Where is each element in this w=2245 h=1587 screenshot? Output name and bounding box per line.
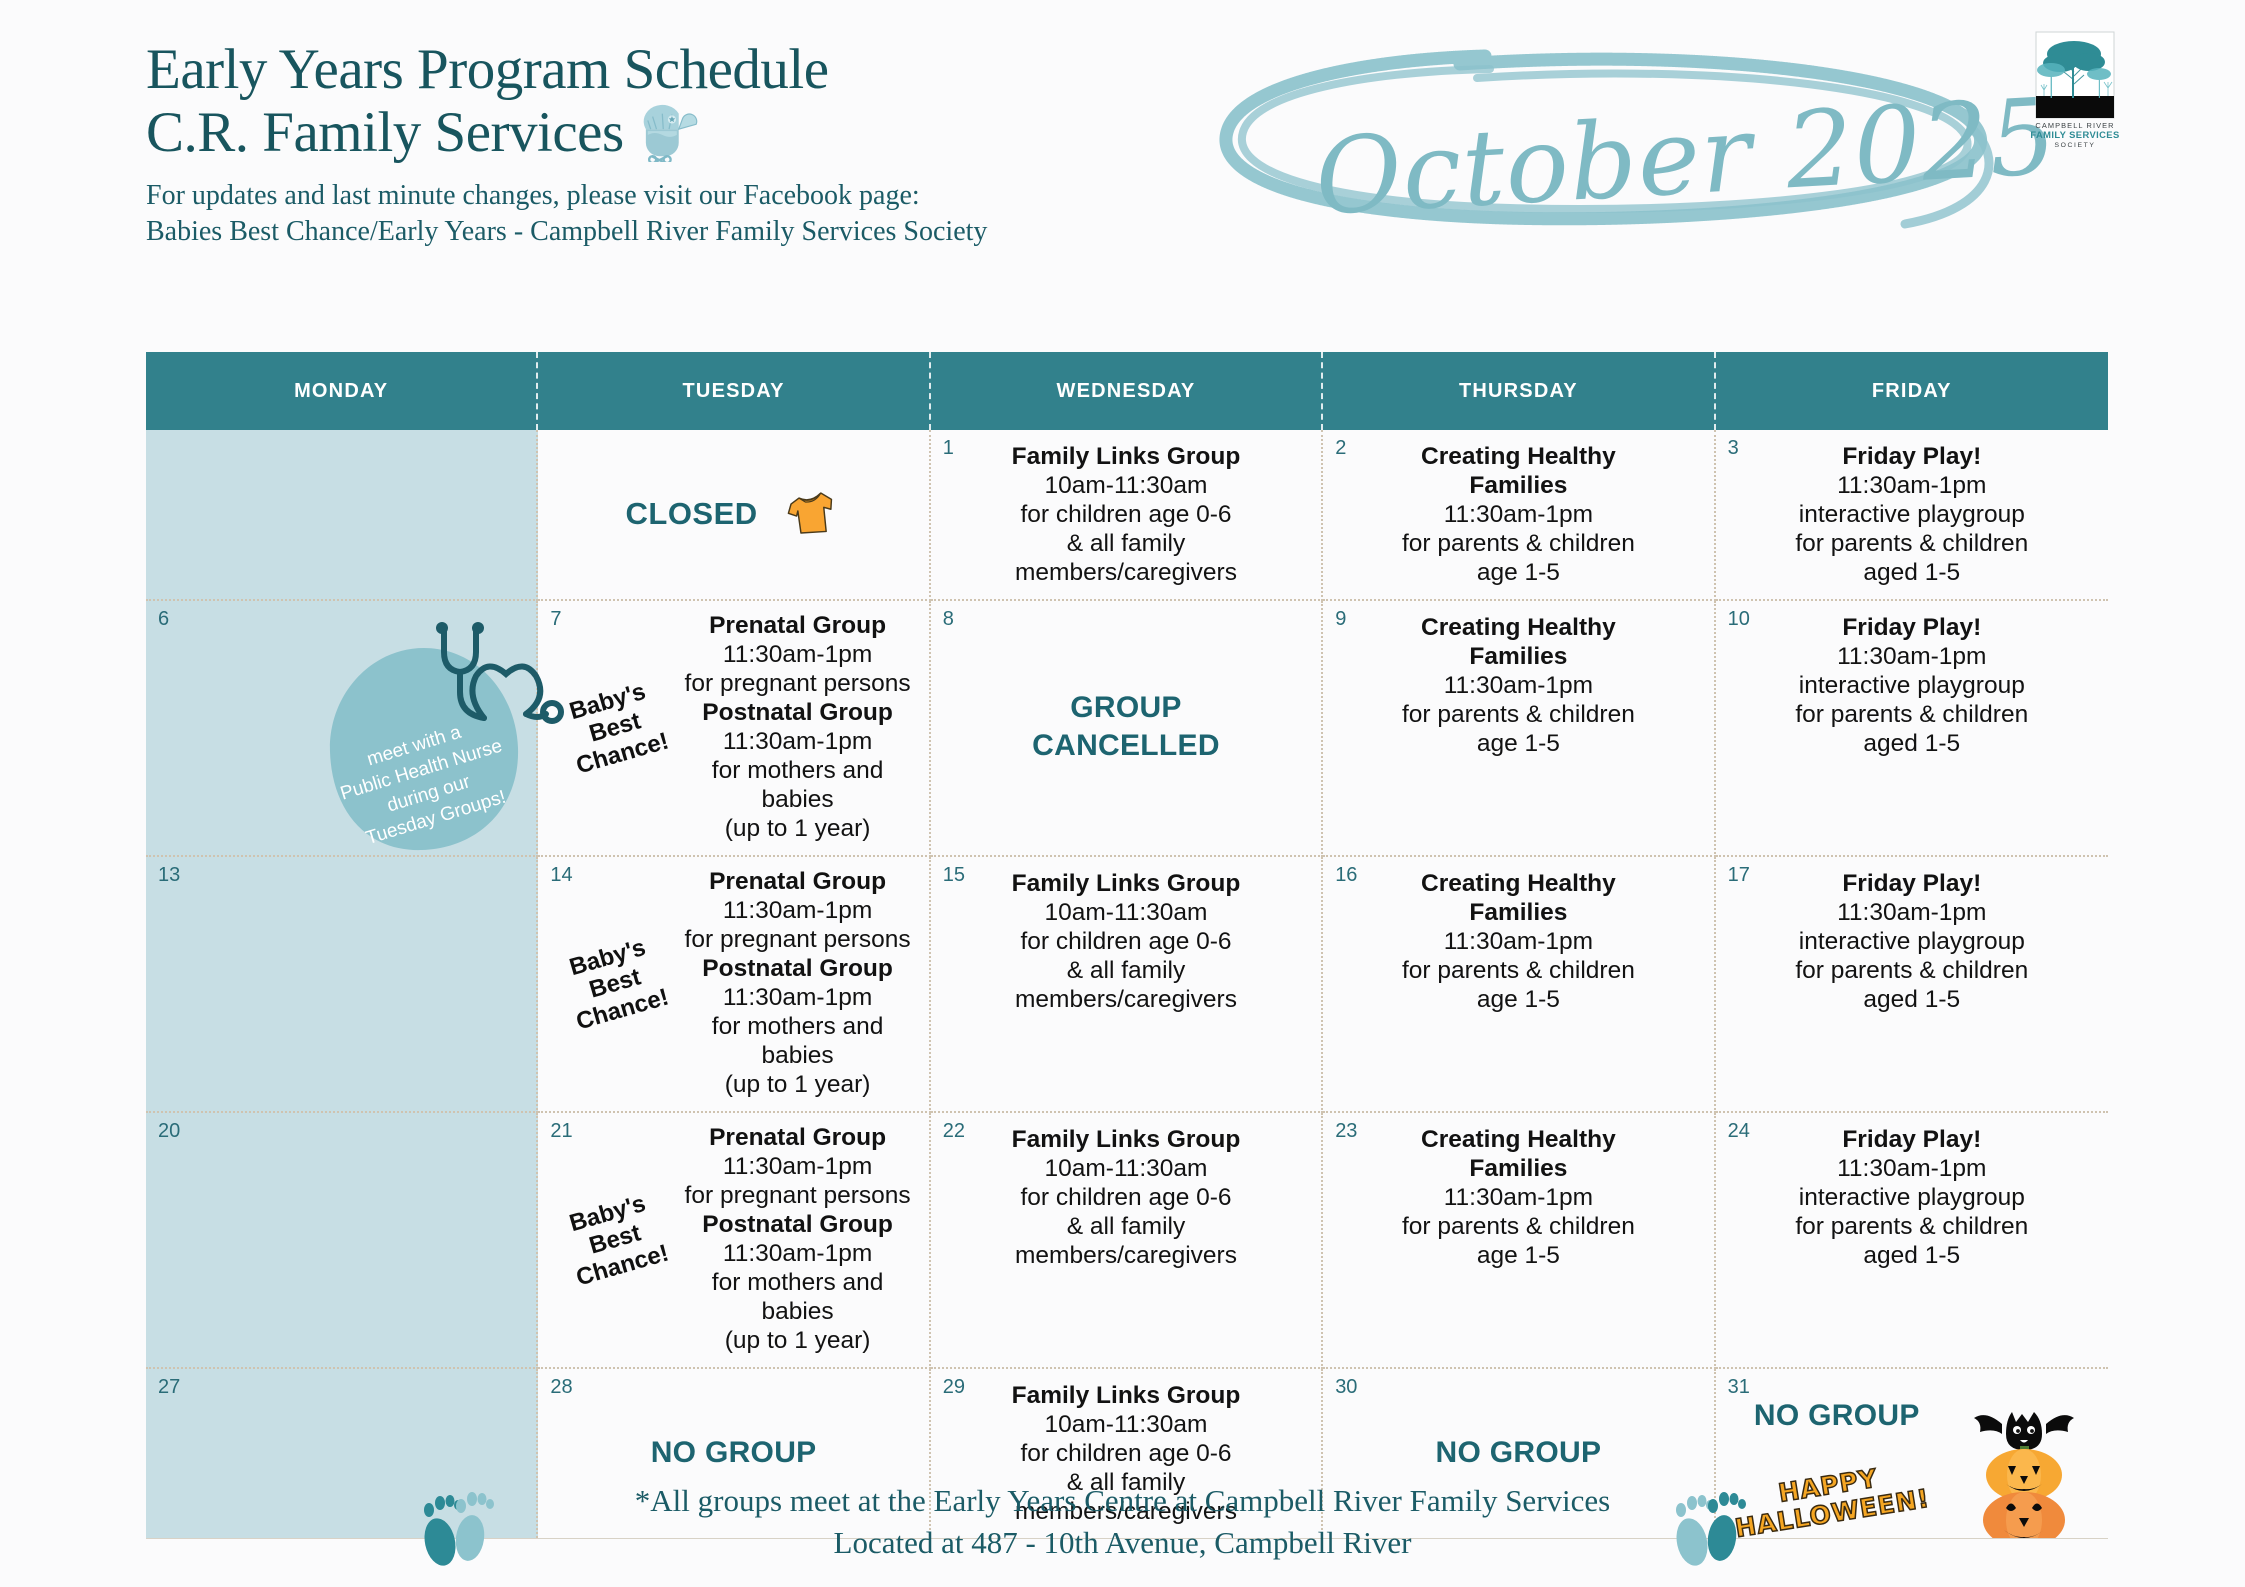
- event-title: Creating HealthyFamilies: [1337, 869, 1699, 927]
- day-number: 20: [158, 1121, 180, 1141]
- event-detail: interactive playgroup: [1730, 1183, 2094, 1212]
- event-detail: 10am-11:30am: [945, 1154, 1307, 1183]
- tuesday-content: Baby'sBestChance! Prenatal Group 11:30am…: [546, 867, 920, 1099]
- day-number: 8: [943, 609, 954, 629]
- page-title-line2: C.R. Family Services: [146, 101, 624, 164]
- event-detail: (up to 1 year): [674, 814, 920, 843]
- event-detail: age 1-5: [1337, 1241, 1699, 1270]
- event-detail: for parents & children: [1337, 956, 1699, 985]
- day-number: 23: [1335, 1121, 1357, 1141]
- event-detail: 11:30am-1pm: [674, 727, 920, 756]
- event: Creating HealthyFamilies 11:30am-1pm for…: [1331, 869, 1705, 1014]
- event-title: Creating HealthyFamilies: [1337, 613, 1699, 671]
- day-cell[interactable]: 13: [146, 857, 538, 1113]
- day-cell[interactable]: 23 Creating HealthyFamilies 11:30am-1pm …: [1323, 1113, 1715, 1369]
- calendar-week-row: 13 14 Baby'sBestChance! Prenatal Group 1…: [146, 857, 2108, 1113]
- day-cell[interactable]: 22 Family Links Group 10am-11:30am for c…: [931, 1113, 1323, 1369]
- event-detail: for pregnant persons: [674, 925, 920, 954]
- page-title-line2-row: C.R. Family Services: [146, 101, 1226, 164]
- event-detail: 11:30am-1pm: [674, 983, 920, 1012]
- day-cell[interactable]: CLOSED: [538, 430, 930, 601]
- day-number: 14: [550, 865, 572, 885]
- day-header-wednesday: WEDNESDAY: [931, 352, 1323, 430]
- logo-line2: FAMILY SERVICES: [2030, 129, 2119, 140]
- tshirt-icon: [780, 483, 842, 545]
- day-cell[interactable]: [146, 430, 538, 601]
- tuesday-content: Baby'sBestChance! Prenatal Group 11:30am…: [546, 1123, 920, 1355]
- day-cell[interactable]: 2 Creating HealthyFamilies 11:30am-1pm f…: [1323, 430, 1715, 601]
- event-detail: 10am-11:30am: [945, 471, 1307, 500]
- event-detail: for mothers and babies: [674, 756, 920, 814]
- event: Friday Play! 11:30am-1pm interactive pla…: [1724, 613, 2100, 758]
- event-title: Family Links Group: [945, 442, 1307, 471]
- event-title: Creating HealthyFamilies: [1337, 442, 1699, 500]
- calendar-header-row: MONDAY TUESDAY WEDNESDAY THURSDAY FRIDAY: [146, 352, 2108, 430]
- event-detail: 10am-11:30am: [945, 1410, 1307, 1439]
- event-detail: & all family: [945, 1212, 1307, 1241]
- day-cell[interactable]: 16 Creating HealthyFamilies 11:30am-1pm …: [1323, 857, 1715, 1113]
- event: Creating HealthyFamilies 11:30am-1pm for…: [1331, 442, 1705, 587]
- closed-row: CLOSED: [546, 440, 920, 587]
- event-detail: for children age 0-6: [945, 1439, 1307, 1468]
- event-detail: members/caregivers: [945, 1241, 1307, 1270]
- footer-line2: Located at 487 - 10th Avenue, Campbell R…: [0, 1522, 2245, 1564]
- event-title: Friday Play!: [1730, 869, 2094, 898]
- day-number: 31: [1728, 1377, 1750, 1397]
- event-title: Creating HealthyFamilies: [1337, 1125, 1699, 1183]
- event-detail: for parents & children: [1730, 1212, 2094, 1241]
- day-header-friday: FRIDAY: [1716, 352, 2108, 430]
- subtitle-line1: For updates and last minute changes, ple…: [146, 178, 1226, 214]
- day-cell[interactable]: 1 Family Links Group 10am-11:30am for ch…: [931, 430, 1323, 601]
- event: Family Links Group 10am-11:30am for chil…: [939, 1125, 1313, 1270]
- event-group: Prenatal Group 11:30am-1pm for pregnant …: [674, 1123, 920, 1355]
- event-detail: for mothers and babies: [674, 1268, 920, 1326]
- babys-best-chance-badge: Baby'sBestChance!: [548, 928, 684, 1038]
- day-number: 24: [1728, 1121, 1750, 1141]
- event: Friday Play! 11:30am-1pm interactive pla…: [1724, 869, 2100, 1014]
- header-subtitle: For updates and last minute changes, ple…: [146, 178, 1226, 250]
- event-detail: for pregnant persons: [674, 1181, 920, 1210]
- day-cell[interactable]: 20: [146, 1113, 538, 1369]
- event-detail: for parents & children: [1730, 700, 2094, 729]
- event-detail: 11:30am-1pm: [674, 1152, 920, 1181]
- day-cell[interactable]: 7 Baby'sBestChance! Prenatal Group 11:30…: [538, 601, 930, 857]
- babys-best-chance-badge: Baby'sBestChance!: [548, 672, 684, 782]
- event-title: Friday Play!: [1730, 1125, 2094, 1154]
- day-cell[interactable]: 15 Family Links Group 10am-11:30am for c…: [931, 857, 1323, 1113]
- event-group: Prenatal Group 11:30am-1pm for pregnant …: [674, 867, 920, 1099]
- event-detail: members/caregivers: [945, 558, 1307, 587]
- event-title: Postnatal Group: [674, 954, 920, 983]
- day-cell[interactable]: 14 Baby'sBestChance! Prenatal Group 11:3…: [538, 857, 930, 1113]
- day-cell[interactable]: 9 Creating HealthyFamilies 11:30am-1pm f…: [1323, 601, 1715, 857]
- event-group: Prenatal Group 11:30am-1pm for pregnant …: [674, 611, 920, 843]
- event-detail: for children age 0-6: [945, 500, 1307, 529]
- day-header-tuesday: TUESDAY: [538, 352, 930, 430]
- event-detail: 11:30am-1pm: [674, 896, 920, 925]
- event-detail: aged 1-5: [1730, 985, 2094, 1014]
- event-detail: age 1-5: [1337, 985, 1699, 1014]
- event-detail: 10am-11:30am: [945, 898, 1307, 927]
- calendar-week-row: CLOSED 1 Family Links Group 10am-11: [146, 430, 2108, 601]
- event-detail: interactive playgroup: [1730, 927, 2094, 956]
- event: Creating HealthyFamilies 11:30am-1pm for…: [1331, 1125, 1705, 1270]
- day-cell[interactable]: 17 Friday Play! 11:30am-1pm interactive …: [1716, 857, 2108, 1113]
- logo-line3: SOCIETY: [2054, 142, 2095, 149]
- event-detail: for pregnant persons: [674, 669, 920, 698]
- event-detail: for parents & children: [1730, 529, 2094, 558]
- baby-carriage-icon: [640, 104, 702, 162]
- event-detail: interactive playgroup: [1730, 671, 2094, 700]
- bat-icon: [1974, 1412, 2074, 1450]
- day-number: 9: [1335, 609, 1346, 629]
- day-number: 16: [1335, 865, 1357, 885]
- event-detail: & all family: [945, 529, 1307, 558]
- event-title: Postnatal Group: [674, 698, 920, 727]
- event-detail: for parents & children: [1337, 700, 1699, 729]
- day-number: 6: [158, 609, 169, 629]
- footer: *All groups meet at the Early Years Cent…: [0, 1480, 2245, 1564]
- event-title: Prenatal Group: [674, 867, 920, 896]
- day-number: 13: [158, 865, 180, 885]
- event-detail: 11:30am-1pm: [674, 1239, 920, 1268]
- event-detail: 11:30am-1pm: [1730, 642, 2094, 671]
- event-detail: for children age 0-6: [945, 927, 1307, 956]
- event-detail: aged 1-5: [1730, 729, 2094, 758]
- day-cell[interactable]: 8 GROUPCANCELLED: [931, 601, 1323, 857]
- day-number: 7: [550, 609, 561, 629]
- day-cell[interactable]: 21 Baby'sBestChance! Prenatal Group 11:3…: [538, 1113, 930, 1369]
- baby-footprints-icon: [1672, 1484, 1750, 1576]
- day-header-monday: MONDAY: [146, 352, 538, 430]
- event: Creating HealthyFamilies 11:30am-1pm for…: [1331, 613, 1705, 758]
- calendar-page: Early Years Program Schedule C.R. Family…: [0, 0, 2245, 1587]
- day-cell[interactable]: 24 Friday Play! 11:30am-1pm interactive …: [1716, 1113, 2108, 1369]
- event-detail: 11:30am-1pm: [1337, 1183, 1699, 1212]
- page-title-line1: Early Years Program Schedule: [146, 38, 1226, 101]
- event: Family Links Group 10am-11:30am for chil…: [939, 442, 1313, 587]
- event-detail: age 1-5: [1337, 558, 1699, 587]
- event-title: Friday Play!: [1730, 613, 2094, 642]
- event-detail: (up to 1 year): [674, 1326, 920, 1355]
- event-title: Family Links Group: [945, 869, 1307, 898]
- day-number: 22: [943, 1121, 965, 1141]
- header-left: Early Years Program Schedule C.R. Family…: [146, 38, 1226, 250]
- day-cell[interactable]: 6: [146, 601, 538, 857]
- tuesday-content: Baby'sBestChance! Prenatal Group 11:30am…: [546, 611, 920, 843]
- event-detail: interactive playgroup: [1730, 500, 2094, 529]
- calendar-week-row: 6 7 Baby'sBestChance! Prenatal Group 11:…: [146, 601, 2108, 857]
- day-cell[interactable]: 3 Friday Play! 11:30am-1pm interactive p…: [1716, 430, 2108, 601]
- day-number: 15: [943, 865, 965, 885]
- event-title: Family Links Group: [945, 1381, 1307, 1410]
- event-detail: age 1-5: [1337, 729, 1699, 758]
- day-number: 17: [1728, 865, 1750, 885]
- babys-best-chance-badge: Baby'sBestChance!: [548, 1184, 684, 1294]
- event-detail: (up to 1 year): [674, 1070, 920, 1099]
- event-detail: 11:30am-1pm: [1730, 898, 2094, 927]
- day-number: 2: [1335, 438, 1346, 458]
- event-detail: 11:30am-1pm: [1730, 1154, 2094, 1183]
- campbell-river-family-services-logo: CAMPBELL RIVER FAMILY SERVICES SOCIETY: [2022, 30, 2130, 152]
- event-detail: for mothers and babies: [674, 1012, 920, 1070]
- subtitle-line2: Babies Best Chance/Early Years - Campbel…: [146, 214, 1226, 250]
- event-title: Postnatal Group: [674, 1210, 920, 1239]
- day-number: 27: [158, 1377, 180, 1397]
- event-title: Family Links Group: [945, 1125, 1307, 1154]
- event-detail: 11:30am-1pm: [1337, 671, 1699, 700]
- event-detail: 11:30am-1pm: [1730, 471, 2094, 500]
- day-number: 21: [550, 1121, 572, 1141]
- day-number: 10: [1728, 609, 1750, 629]
- month-heading: October 2025: [1205, 28, 2035, 238]
- day-number: 28: [550, 1377, 572, 1397]
- event: Family Links Group 10am-11:30am for chil…: [939, 869, 1313, 1014]
- event-detail: 11:30am-1pm: [1337, 927, 1699, 956]
- event-detail: 11:30am-1pm: [1337, 500, 1699, 529]
- day-number: 29: [943, 1377, 965, 1397]
- day-number: 30: [1335, 1377, 1357, 1397]
- event-title: Prenatal Group: [674, 1123, 920, 1152]
- footer-line1: *All groups meet at the Early Years Cent…: [0, 1480, 2245, 1522]
- event-detail: for parents & children: [1337, 529, 1699, 558]
- calendar: MONDAY TUESDAY WEDNESDAY THURSDAY FRIDAY…: [146, 352, 2108, 1539]
- event-detail: aged 1-5: [1730, 558, 2094, 587]
- day-number: 1: [943, 438, 954, 458]
- event-detail: 11:30am-1pm: [674, 640, 920, 669]
- event-title: Prenatal Group: [674, 611, 920, 640]
- event: Friday Play! 11:30am-1pm interactive pla…: [1724, 1125, 2100, 1270]
- calendar-body: CLOSED 1 Family Links Group 10am-11: [146, 430, 2108, 1539]
- event-detail: members/caregivers: [945, 985, 1307, 1014]
- day-cell[interactable]: 10 Friday Play! 11:30am-1pm interactive …: [1716, 601, 2108, 857]
- event-detail: for children age 0-6: [945, 1183, 1307, 1212]
- day-header-thursday: THURSDAY: [1323, 352, 1715, 430]
- event-detail: aged 1-5: [1730, 1241, 2094, 1270]
- day-number: 3: [1728, 438, 1739, 458]
- closed-label: CLOSED: [626, 496, 758, 532]
- event-title: Friday Play!: [1730, 442, 2094, 471]
- event-detail: for parents & children: [1730, 956, 2094, 985]
- event: Friday Play! 11:30am-1pm interactive pla…: [1724, 442, 2100, 587]
- calendar-week-row: 20 21 Baby'sBestChance! Prenatal Group 1…: [146, 1113, 2108, 1369]
- event-detail: & all family: [945, 956, 1307, 985]
- event-detail: for parents & children: [1337, 1212, 1699, 1241]
- status-note: GROUPCANCELLED: [939, 611, 1313, 843]
